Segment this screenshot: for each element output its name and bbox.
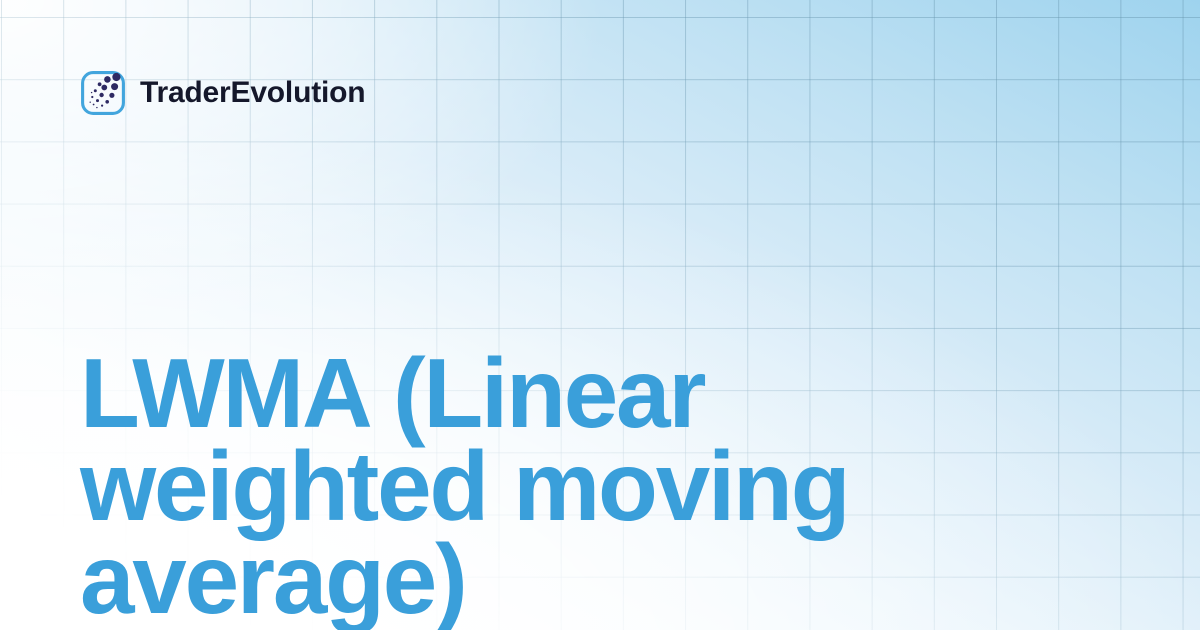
card-content: TraderEvolution LWMA (Linear weighted mo…	[0, 0, 1200, 630]
traderevolution-particles-logo-icon	[80, 70, 126, 116]
brand-lockup[interactable]: TraderEvolution	[80, 70, 365, 116]
brand-name: TraderEvolution	[140, 78, 365, 108]
page-title: LWMA (Linear weighted moving average)	[80, 347, 1120, 626]
og-card: TraderEvolution LWMA (Linear weighted mo…	[0, 0, 1200, 630]
